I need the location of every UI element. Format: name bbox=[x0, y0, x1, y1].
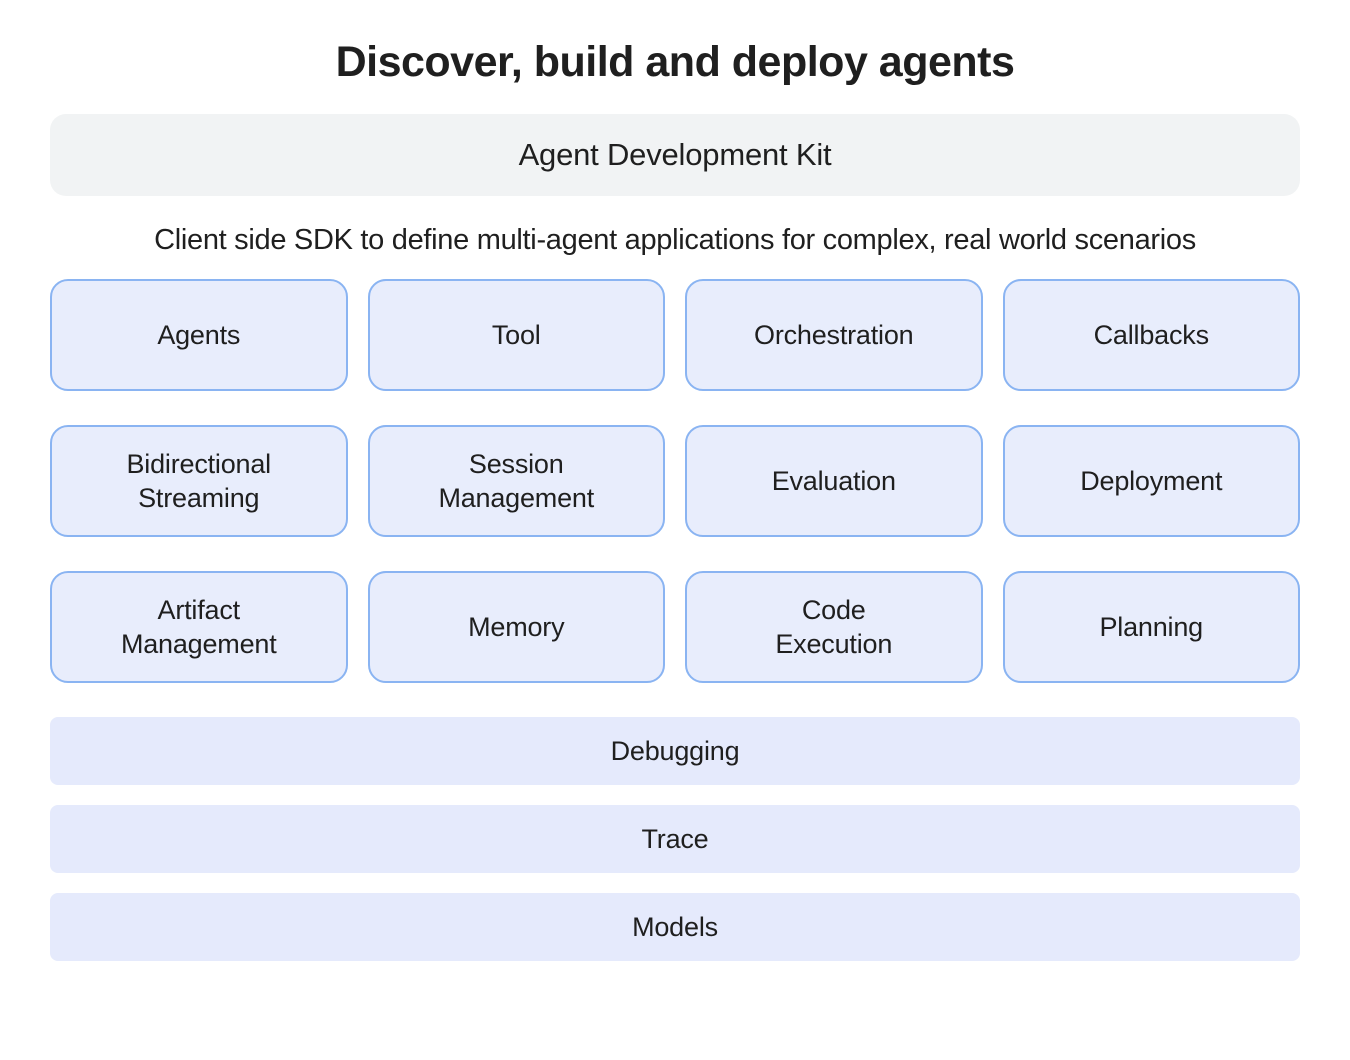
page-title: Discover, build and deploy agents bbox=[0, 0, 1350, 87]
agent-development-kit-header: Agent Development Kit bbox=[50, 114, 1300, 196]
foundation-bar-label: Models bbox=[632, 912, 718, 943]
feature-card-label: Evaluation bbox=[772, 464, 896, 499]
adk-architecture-diagram: Discover, build and deploy agents Agent … bbox=[0, 0, 1350, 1060]
feature-card-planning[interactable]: Planning bbox=[1003, 571, 1301, 683]
feature-card-callbacks[interactable]: Callbacks bbox=[1003, 279, 1301, 391]
feature-card-grid: Agents Tool Orchestration Callbacks Bidi… bbox=[50, 279, 1300, 683]
feature-card-code-execution[interactable]: Code Execution bbox=[685, 571, 983, 683]
feature-card-evaluation[interactable]: Evaluation bbox=[685, 425, 983, 537]
foundation-bar-trace[interactable]: Trace bbox=[50, 805, 1300, 873]
feature-card-label: Tool bbox=[492, 318, 541, 353]
feature-card-agents[interactable]: Agents bbox=[50, 279, 348, 391]
feature-card-label: Orchestration bbox=[754, 318, 913, 353]
foundation-bar-label: Trace bbox=[641, 824, 708, 855]
feature-card-bidirectional-streaming[interactable]: Bidirectional Streaming bbox=[50, 425, 348, 537]
feature-card-label: Agents bbox=[157, 318, 240, 353]
feature-card-session-management[interactable]: Session Management bbox=[368, 425, 666, 537]
adk-stack: Agent Development Kit Client side SDK to… bbox=[50, 87, 1300, 961]
feature-card-label: Memory bbox=[468, 610, 564, 645]
foundation-bar-models[interactable]: Models bbox=[50, 893, 1300, 961]
feature-card-label: Bidirectional Streaming bbox=[127, 447, 271, 516]
kit-subtitle: Client side SDK to define multi-agent ap… bbox=[50, 196, 1300, 279]
feature-card-memory[interactable]: Memory bbox=[368, 571, 666, 683]
foundation-bar-label: Debugging bbox=[611, 736, 740, 767]
feature-card-artifact-management[interactable]: Artifact Management bbox=[50, 571, 348, 683]
feature-card-label: Code Execution bbox=[775, 593, 892, 662]
feature-card-label: Artifact Management bbox=[121, 593, 277, 662]
feature-card-label: Planning bbox=[1100, 610, 1204, 645]
feature-card-deployment[interactable]: Deployment bbox=[1003, 425, 1301, 537]
feature-card-label: Deployment bbox=[1080, 464, 1222, 499]
feature-card-label: Callbacks bbox=[1094, 318, 1209, 353]
agent-development-kit-label: Agent Development Kit bbox=[519, 137, 832, 173]
foundation-bar-debugging[interactable]: Debugging bbox=[50, 717, 1300, 785]
feature-card-tool[interactable]: Tool bbox=[368, 279, 666, 391]
feature-card-orchestration[interactable]: Orchestration bbox=[685, 279, 983, 391]
feature-card-label: Session Management bbox=[438, 447, 594, 516]
foundation-bars: Debugging Trace Models bbox=[50, 683, 1300, 961]
